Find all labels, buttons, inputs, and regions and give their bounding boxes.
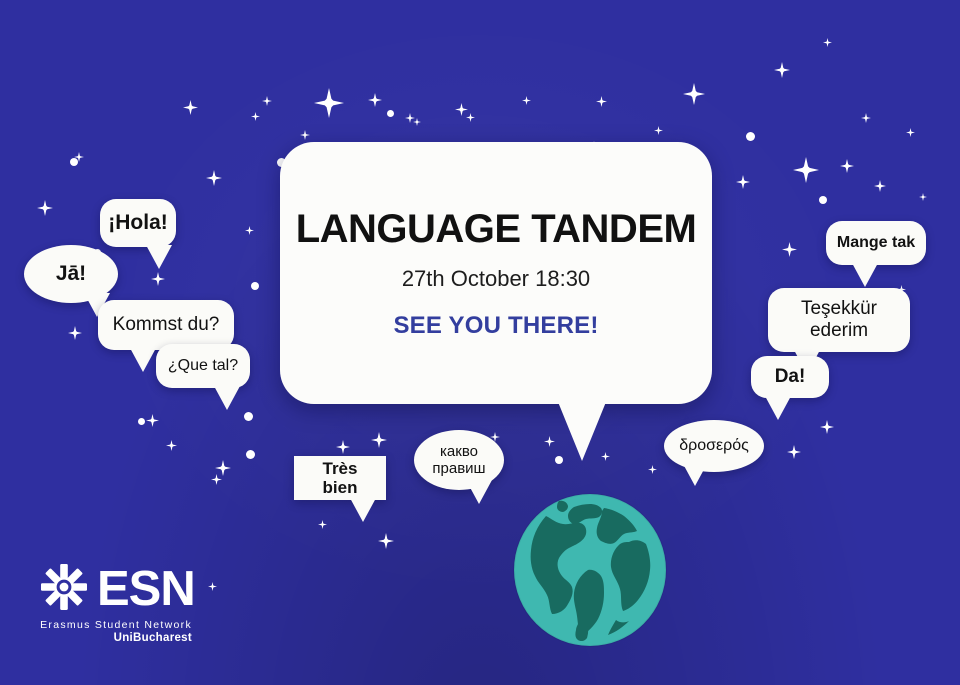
main-speech-bubble: LANGUAGE TANDEM 27th October 18:30 SEE Y…	[280, 142, 712, 404]
speech-bubble-label: ¡Hola!	[98, 211, 178, 235]
globe-americas-icon	[512, 492, 668, 648]
speech-bubble-label: Mange tak	[827, 234, 925, 252]
speech-bubble-label: Da!	[765, 366, 816, 388]
sparkle-star-icon	[215, 460, 231, 476]
speech-bubble-tail	[682, 462, 708, 486]
star-dot-icon	[244, 412, 253, 421]
sparkle-star-icon	[820, 420, 834, 434]
star-dot-icon	[246, 450, 255, 459]
star-dot-icon	[138, 418, 145, 425]
sparkle-star-icon	[455, 103, 468, 116]
event-datetime: 27th October 18:30	[402, 266, 590, 292]
sparkle-star-icon	[405, 113, 415, 123]
sparkle-star-icon	[151, 272, 165, 286]
speech-bubble-latvian-ja: Jā!	[24, 245, 118, 303]
call-to-action: SEE YOU THERE!	[393, 312, 598, 340]
esn-logo-top-row: ESN	[40, 563, 195, 616]
sparkle-star-icon	[736, 175, 750, 189]
sparkle-star-icon	[371, 432, 387, 448]
sparkle-star-icon	[68, 326, 82, 340]
star-dot-icon	[746, 132, 755, 141]
speech-bubble-spanish-que-tal: ¿Que tal?	[156, 344, 250, 388]
speech-bubble-tail	[852, 263, 878, 287]
sparkle-star-icon	[793, 157, 819, 183]
esn-wordmark: ESN	[97, 565, 195, 614]
speech-bubble-danish-mange-tak: Mange tak	[826, 221, 926, 265]
sparkle-star-icon	[654, 126, 663, 135]
sparkle-star-icon	[37, 200, 53, 216]
sparkle-star-icon	[823, 38, 832, 47]
sparkle-star-icon	[874, 180, 886, 192]
sparkle-star-icon	[211, 474, 222, 485]
sparkle-star-icon	[522, 96, 531, 105]
sparkle-star-icon	[919, 193, 927, 201]
sparkle-star-icon	[413, 118, 421, 126]
esn-section-name: UniBucharest	[40, 632, 192, 644]
sparkle-star-icon	[544, 436, 555, 447]
speech-bubble-tail	[214, 386, 240, 410]
sparkle-star-icon	[262, 96, 272, 106]
sparkle-star-icon	[166, 440, 177, 451]
sparkle-star-icon	[787, 445, 801, 459]
sparkle-star-icon	[336, 440, 350, 454]
speech-bubble-label: Kommst du?	[103, 314, 230, 336]
speech-bubble-german-kommst-du: Kommst du?	[98, 300, 234, 350]
speech-bubble-turkish-tesekkur: Teşekkür ederim	[768, 288, 910, 352]
esn-logo: ESN Erasmus Student Network UniBucharest	[40, 563, 195, 644]
speech-bubble-romanian-da: Da!	[751, 356, 829, 398]
sparkle-star-icon	[466, 113, 475, 122]
sparkle-star-icon	[206, 170, 222, 186]
esn-star-icon	[40, 563, 88, 616]
esn-subtitle: Erasmus Student Network	[40, 619, 192, 631]
speech-bubble-french-tres-bien: Très bien	[294, 456, 386, 500]
sparkle-star-icon	[861, 113, 871, 123]
sparkle-star-icon	[314, 88, 344, 118]
speech-bubble-label: какво правиш	[414, 443, 504, 477]
star-dot-icon	[70, 158, 78, 166]
sparkle-star-icon	[245, 226, 254, 235]
speech-bubble-tail	[466, 480, 492, 504]
sparkle-star-icon	[648, 465, 657, 474]
speech-bubble-label: Jā!	[46, 262, 96, 286]
poster-canvas: LANGUAGE TANDEM 27th October 18:30 SEE Y…	[0, 0, 960, 685]
sparkle-star-icon	[318, 520, 327, 529]
speech-bubble-tail	[765, 396, 791, 420]
sparkle-star-icon	[782, 242, 797, 257]
sparkle-star-icon	[368, 93, 382, 107]
sparkle-star-icon	[906, 128, 915, 137]
sparkle-star-icon	[183, 100, 198, 115]
sparkle-star-icon	[596, 96, 607, 107]
speech-bubble-tail	[130, 348, 156, 372]
speech-bubble-greek-droseros: δροσερός	[664, 420, 764, 472]
speech-bubble-tail	[350, 498, 376, 522]
sparkle-star-icon	[208, 582, 217, 591]
speech-bubble-spanish-hola: ¡Hola!	[100, 199, 176, 247]
star-dot-icon	[251, 282, 259, 290]
speech-bubble-label: Très bien	[294, 459, 386, 498]
sparkle-star-icon	[774, 62, 790, 78]
sparkle-star-icon	[251, 112, 260, 121]
page-title: LANGUAGE TANDEM	[296, 207, 697, 252]
speech-bubble-label: ¿Que tal?	[158, 357, 248, 375]
sparkle-star-icon	[146, 414, 159, 427]
star-dot-icon	[819, 196, 827, 204]
star-dot-icon	[387, 110, 394, 117]
speech-bubble-tail	[146, 245, 172, 269]
sparkle-star-icon	[378, 533, 394, 549]
sparkle-star-icon	[683, 83, 705, 105]
speech-bubble-bulgarian-kakvo: какво правиш	[414, 430, 504, 490]
speech-bubble-label: δροσερός	[669, 437, 759, 455]
sparkle-star-icon	[300, 130, 310, 140]
sparkle-star-icon	[840, 159, 854, 173]
speech-bubble-label: Teşekkür ederim	[768, 298, 910, 341]
main-bubble-tail	[556, 397, 608, 461]
